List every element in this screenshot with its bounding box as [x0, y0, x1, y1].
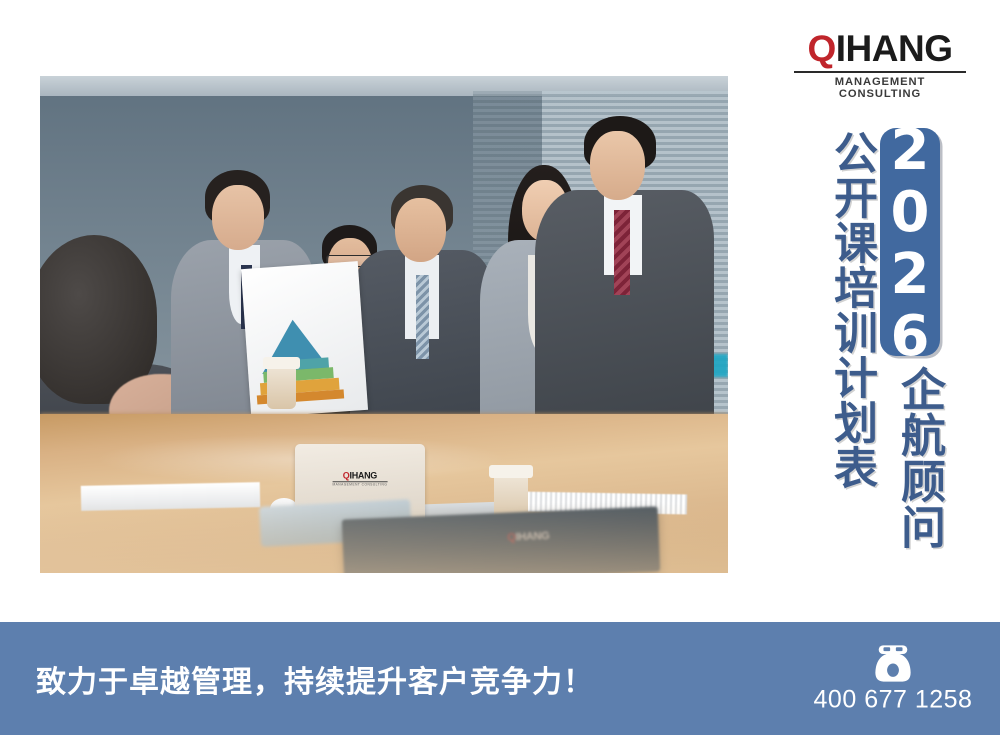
logo-divider	[794, 71, 966, 73]
logo-tagline: MANAGEMENT CONSULTING	[794, 76, 966, 100]
brand-logo: QIHANG MANAGEMENT CONSULTING	[794, 30, 966, 100]
photo-person-senior-tie	[416, 275, 430, 359]
photo-pyramid-chart-paper	[241, 261, 368, 418]
footer-band: 致力于卓越管理，持续提升客户竞争力！ 400 677 1258	[0, 622, 1000, 735]
logo-wordmark: QIHANG	[794, 30, 966, 67]
poster-year-badge: 2026	[880, 128, 940, 356]
photo-foreground-blur	[40, 503, 728, 573]
photo-person-young-man-face	[212, 185, 264, 250]
laptop-logo-tagline: MANAGEMENT CONSULTING	[332, 481, 387, 487]
logo-letter-q: Q	[807, 28, 835, 69]
photo-coffee-cup-left-lid	[263, 357, 300, 369]
telephone-icon	[870, 643, 916, 683]
photo-coffee-cup-right-lid	[489, 465, 533, 478]
poster-year-text: 2026	[880, 128, 940, 356]
poster-title-block: 公开课培训计划表 2026 企航顾问	[818, 128, 978, 558]
photo-person-senior-face	[395, 198, 446, 263]
photo-person-tall-man-tie	[614, 210, 631, 294]
poster-title-right-column: 企航顾问	[896, 366, 942, 550]
footer-slogan: 致力于卓越管理，持续提升客户竞争力！	[36, 657, 594, 701]
logo-letters-rest: IHANG	[836, 28, 953, 69]
footer-contact: 400 677 1258	[808, 643, 978, 714]
laptop-logo-letter-q: Q	[343, 470, 350, 480]
photo-person-tall-man-face	[590, 131, 645, 201]
photo-coffee-cup-left	[267, 364, 296, 409]
laptop-brand-logo: QIHANG MANAGEMENT CONSULTING	[332, 471, 387, 487]
hero-photo: QIHANG MANAGEMENT CONSULTING QIHANG	[40, 76, 728, 573]
footer-phone-number: 400 677 1258	[808, 685, 978, 714]
laptop-logo-letters-rest: IHANG	[350, 470, 378, 480]
poster-title-left-column: 公开课培训计划表	[829, 130, 874, 490]
